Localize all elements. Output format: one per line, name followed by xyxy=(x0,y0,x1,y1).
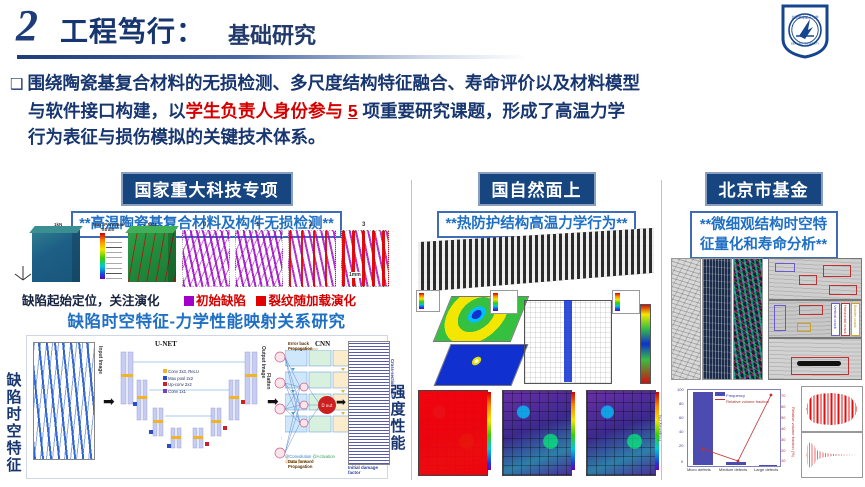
unet-legend: Conv 3x3, ReLU Max pool 2x2 Up-conv 2x2 … xyxy=(163,369,199,395)
heatmap-cell-1 xyxy=(418,390,488,476)
crack-image-top xyxy=(768,258,862,300)
content-area: 国家重大科技专项 **高温陶瓷基复合材料及构件无损检测** 1kN Max. P… xyxy=(0,172,865,487)
colorbar-strain xyxy=(100,233,105,279)
section-subtitle-3: **微细观结构时空特征量化和寿命分析** xyxy=(690,211,838,259)
label-unet: U-NET xyxy=(155,340,177,348)
acoustic-signal-plot-1 xyxy=(801,386,863,432)
paragraph-line-2b: 项重要研究课题，形成了高温力学 xyxy=(362,101,625,121)
slide-number: 2 xyxy=(16,4,36,48)
label-scale-bar: 1mm xyxy=(348,272,362,278)
svg-text:北京航空航天大学: 北京航空航天大学 xyxy=(791,15,819,20)
axis-triad-icon xyxy=(12,262,34,284)
damage-factor-plot xyxy=(348,341,390,465)
paragraph-project-count: 5 xyxy=(348,101,358,121)
bar-large-defects xyxy=(759,465,777,466)
col1-banner: 缺陷时空特征-力学性能映射关系研究 xyxy=(4,308,409,332)
legend-label-defect: 初始缺陷 xyxy=(196,294,246,308)
unet-legend-item-1: Max pool 2x2 xyxy=(168,376,193,381)
fem-bar-specimen xyxy=(640,304,651,384)
label-data-forward-propagation: Data forward Propagation xyxy=(288,459,328,469)
chart-ylabel: Frequency (%) xyxy=(657,415,662,441)
svg-text:BEIHANG UNIVERSITY: BEIHANG UNIVERSITY xyxy=(791,42,819,46)
beihang-university-logo-icon: 北京航空航天大学 BEIHANG UNIVERSITY xyxy=(779,3,831,59)
section-title-1: 国家重大科技专项 xyxy=(121,172,293,206)
mlp-diagram: D out ⋮ xyxy=(270,343,340,471)
section-title-2: 国自然面上 xyxy=(478,172,596,206)
fem-colorbar-1 xyxy=(416,290,440,312)
fem-crack-band xyxy=(564,300,572,382)
heatmap-colorbar-1 xyxy=(487,392,491,470)
input-image-thumb xyxy=(33,342,95,460)
vertical-label-defect-features: 缺陷时空特征 xyxy=(6,372,22,474)
unet-architecture-diagram xyxy=(119,350,259,460)
paragraph-line-3: 行为表征与损伤模拟的关键技术体系。 xyxy=(10,124,860,150)
label-input-image: Input Image xyxy=(97,346,103,374)
crack-type-legend: Vertical crack Horizontal crack Border c… xyxy=(831,303,860,336)
caption-defect-localization: 缺陷起始定位，关注演化 xyxy=(22,290,160,309)
paragraph-highlight: 学生负责人身份参与 xyxy=(186,101,344,121)
legend-label-crack: 裂纹随加载演化 xyxy=(268,294,356,308)
microstructure-strip-dark xyxy=(702,258,732,380)
column-beijing-fund: 北京市基金 **微细观结构时空特征量化和寿命分析** Vertical crac… xyxy=(664,172,863,487)
svg-text:⋮: ⋮ xyxy=(280,436,283,440)
legend-defect-evolution: 初始缺陷 裂纹随加载演化 xyxy=(184,290,356,310)
acoustic-signal-plot-2 xyxy=(801,432,863,478)
microstructure-strip-segmented xyxy=(733,258,763,380)
chart-legend: Frequency Relative volume fraction xyxy=(715,392,769,405)
chart-legend-volume-fraction: Relative volume fraction xyxy=(726,399,769,404)
unet-legend-item-2: Up-conv 2x2 xyxy=(168,382,192,387)
chart-legend-frequency: Frequency xyxy=(726,393,745,398)
crack-legend-vertical: Vertical crack xyxy=(831,303,840,336)
crack-image-bottom xyxy=(768,338,862,380)
figure-defect-evolution: 1kN Max. Principal Strain 2.5kN 0 1 2 xyxy=(4,222,409,288)
column-national-major-project: 国家重大科技专项 **高温陶瓷基复合材料及构件无损检测** 1kN Max. P… xyxy=(4,172,409,487)
chart-y2label: Relative volume fraction (%) xyxy=(791,407,796,457)
slide-header: 2 工程笃行： 基础研究 北京航空航天大学 BEIHANG UNIVERSITY xyxy=(0,0,865,62)
crack-image-middle: Vertical crack Horizontal crack Border c… xyxy=(768,300,862,338)
mlp-and-result-panel: Flatten D out ⋮ Error back Propag xyxy=(262,335,390,477)
heatmap-colorbar-2 xyxy=(571,392,575,470)
legend-swatch-defect xyxy=(184,296,194,306)
label-error-back-propagation: Error back Propagation xyxy=(288,341,328,351)
crack-legend-border: Border crack xyxy=(851,303,860,336)
chart-xtick-1: Medium defects xyxy=(719,467,747,472)
label-step-3: 3 xyxy=(362,222,365,228)
unet-legend-item-3: Conv 1x1 xyxy=(168,389,186,394)
label-step-2: 2 xyxy=(309,222,312,228)
crack-legend-horizontal: Horizontal crack xyxy=(841,303,850,336)
svg-text:D out: D out xyxy=(322,403,333,408)
label-initial-damage-factor: Initial damage factor xyxy=(348,465,390,475)
unet-legend-item-0: Conv 3x3, ReLU xyxy=(168,369,199,374)
microstructure-strip-gray xyxy=(671,258,701,380)
fem-plate-displacement xyxy=(434,344,529,386)
header-divider xyxy=(17,55,527,59)
section-title-3: 北京市基金 xyxy=(705,172,823,206)
fem-colorbar-3 xyxy=(612,290,640,314)
tomography-step-0 xyxy=(182,230,230,287)
label-step-0: 0 xyxy=(203,222,206,228)
fem-colorbar-2 xyxy=(490,290,518,314)
column-nsfc-general-project: 国自然面上 **热防护结构高温力学行为** xyxy=(414,172,659,487)
tomography-step-2 xyxy=(288,230,336,287)
label-cross-section-slice: Cross-section slice xyxy=(390,359,395,397)
bullet-icon: ❑ xyxy=(10,76,23,93)
tomography-step-3 xyxy=(341,230,389,287)
heatmap-cell-2 xyxy=(502,390,572,476)
paragraph-line-2a: 与软件接口构建，以 xyxy=(28,101,186,121)
paragraph-line-1: 围绕陶瓷基复合材料的无损检测、多尺度结构特征融合、寿命评价以及材料模型 xyxy=(27,73,640,93)
page-title: 工程笃行： xyxy=(60,10,205,50)
column-divider-1 xyxy=(411,180,412,480)
chart-xtick-0: Micro defects xyxy=(687,467,711,472)
pipeline-arrow-4: ➡ xyxy=(336,397,346,408)
page-subtitle: 基础研究 xyxy=(228,18,316,50)
body-paragraph: ❑围绕陶瓷基复合材料的无损检测、多尺度结构特征融合、寿命评价以及材料模型 与软件… xyxy=(10,70,860,150)
tomography-step-1 xyxy=(235,230,283,287)
defect-statistics-chart: 100 80 60 40 20 0 Frequency (%) 70 60 50… xyxy=(669,385,797,477)
heatmap-cell-3 xyxy=(586,390,656,476)
legend-swatch-crack xyxy=(256,296,266,306)
label-step-1: 1 xyxy=(256,222,259,228)
label-colorbar-title: Max. Principal Strain xyxy=(88,222,128,232)
chart-xtick-2: Large defects xyxy=(754,467,778,472)
pipeline-arrow-1: ➡ xyxy=(103,396,115,407)
